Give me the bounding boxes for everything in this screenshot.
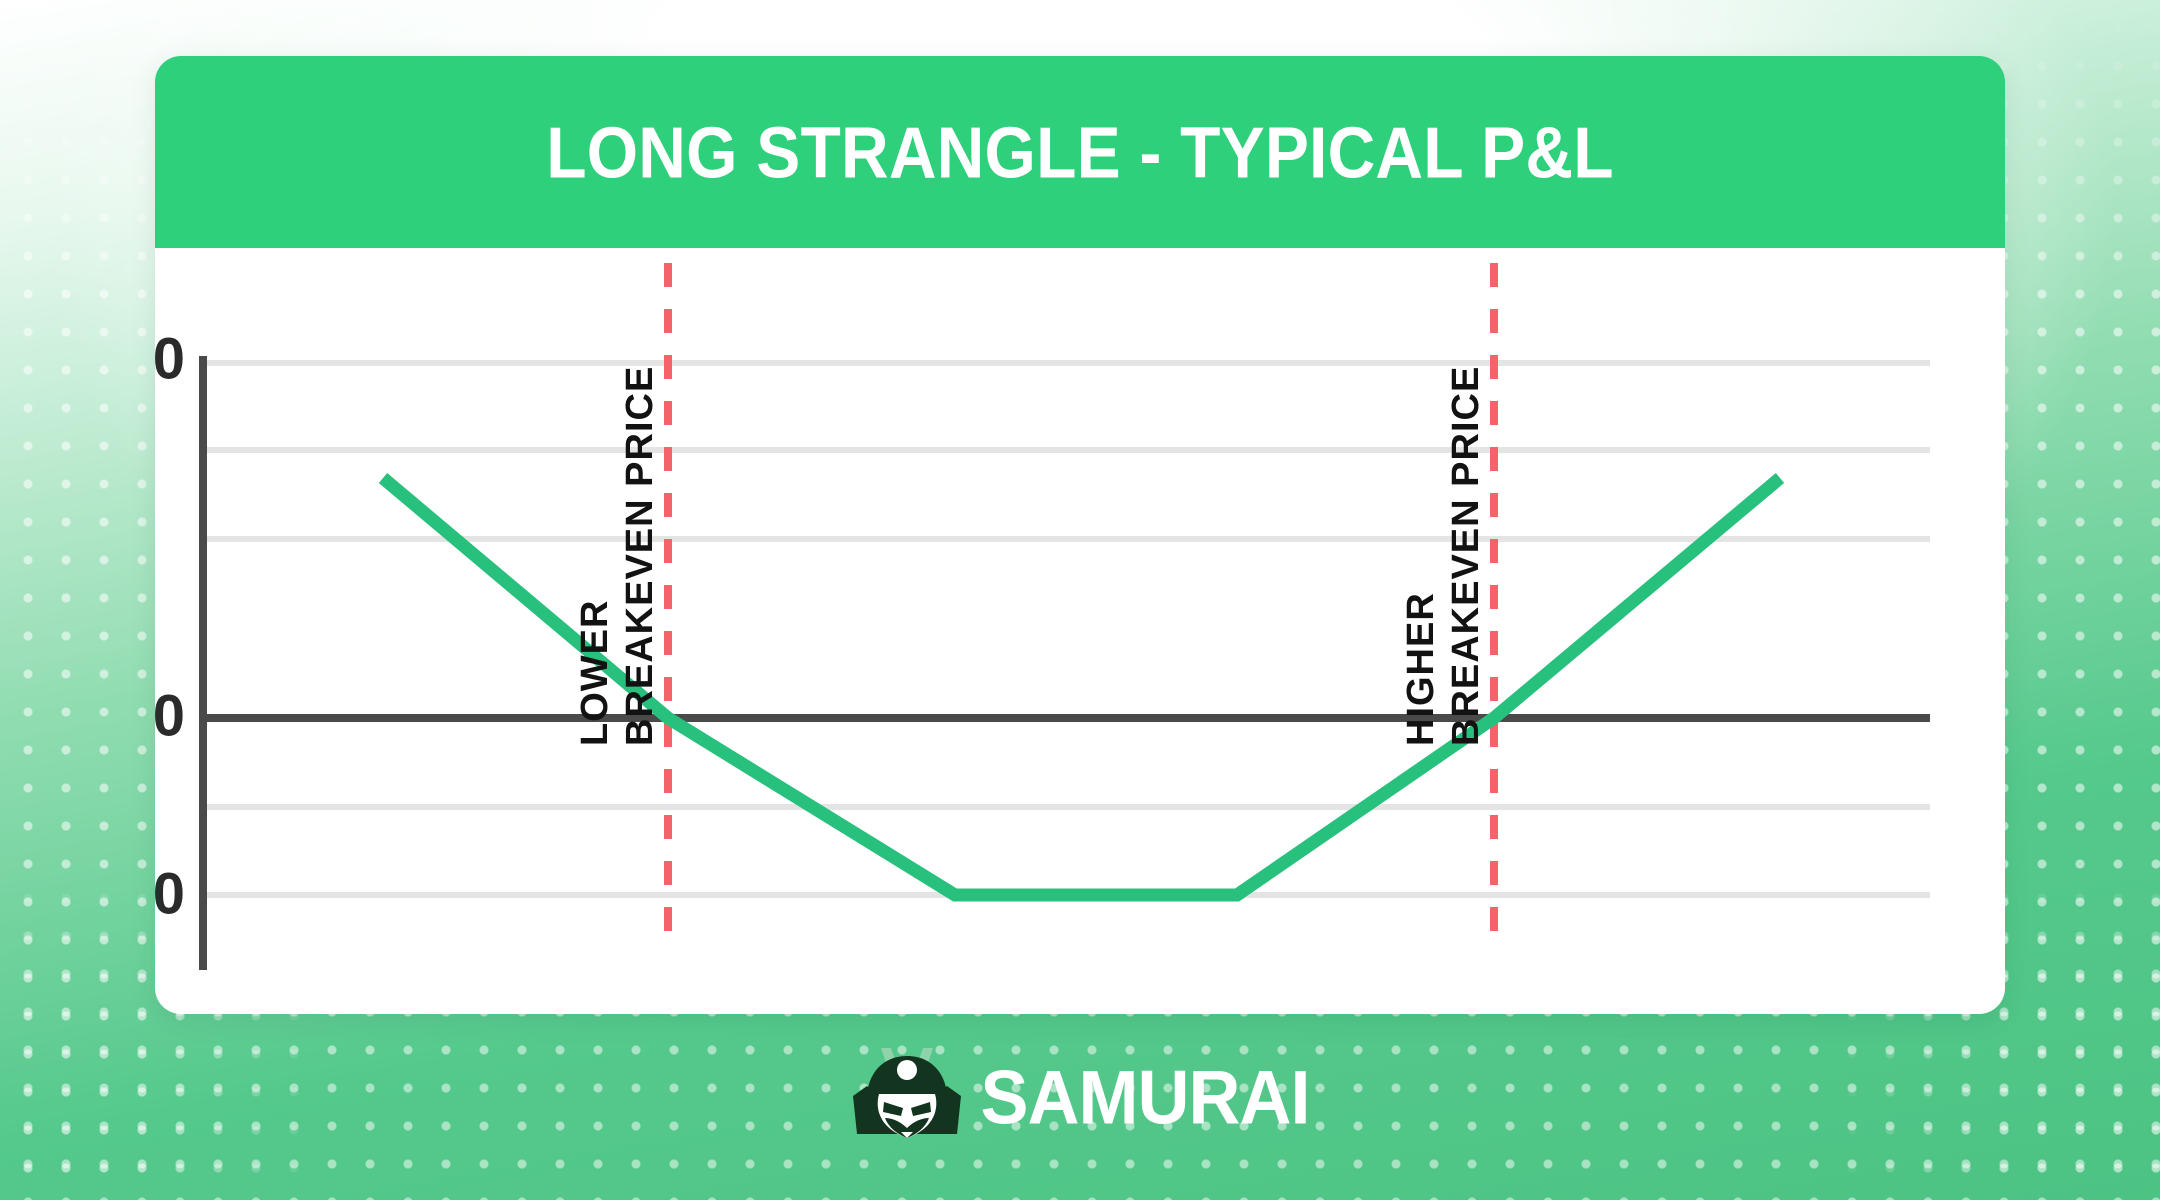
lower-breakeven-label-line1: LOWER [574,600,616,746]
brand-name: SAMURAI [981,1055,1310,1142]
payoff-chart-svg: 10 0 -10 LOWER BREAKEVEN PRICE HIGHER BR… [155,248,2005,1014]
samurai-helmet-icon [851,1046,963,1150]
payoff-chart: 10 0 -10 LOWER BREAKEVEN PRICE HIGHER BR… [155,248,2005,1014]
y-tick-label-0: 0 [155,683,185,748]
higher-breakeven-label-line2: BREAKEVEN PRICE [1445,366,1487,746]
lower-breakeven-label-line2: BREAKEVEN PRICE [619,366,661,746]
y-tick-label-minus-10: -10 [155,861,185,926]
lower-breakeven-annotation: LOWER BREAKEVEN PRICE [574,366,661,746]
brand-logo: SAMURAI [0,1046,2160,1150]
chart-card: LONG STRANGLE - TYPICAL P&L 10 0 -10 [155,56,2005,1014]
higher-breakeven-label-line1: HIGHER [1400,592,1442,746]
higher-breakeven-annotation: HIGHER BREAKEVEN PRICE [1400,366,1487,746]
y-tick-label-10: 10 [155,326,185,391]
chart-gridlines [203,363,1930,895]
card-header: LONG STRANGLE - TYPICAL P&L [155,56,2005,248]
page-title: LONG STRANGLE - TYPICAL P&L [546,110,1614,194]
